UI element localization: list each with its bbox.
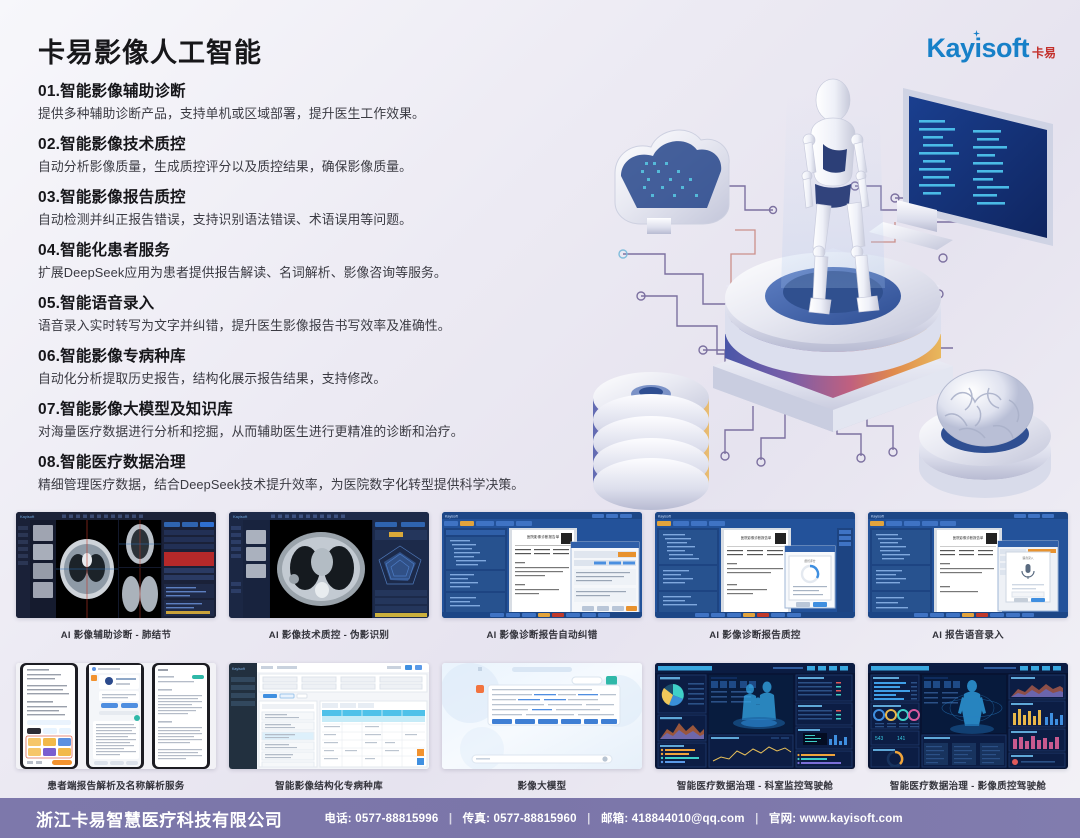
screenshot-caption: AI 影像诊断报告质控 bbox=[655, 627, 855, 641]
email-value[interactable]: 418844010@qq.com bbox=[632, 813, 745, 825]
feature-heading: 07.智能影像大模型及知识库 bbox=[38, 398, 598, 421]
feature-desc: 自动检测并纠正报告错误，支持识别语法错误、术语误用等问题。 bbox=[38, 210, 598, 231]
svg-text:质控评分: 质控评分 bbox=[804, 559, 815, 563]
ai-illustration bbox=[585, 58, 1080, 518]
feature-item: 01.智能影像辅助诊断提供多种辅助诊断产品，支持单机或区域部署，提升医生工作效果… bbox=[38, 80, 598, 125]
footer-bar: 浙江卡易智慧医疗科技有限公司 电话: 0577-88815996 | 传真: 0… bbox=[0, 798, 1080, 838]
screenshot-cell: Kayisoft 医院影像诊断报告单 bbox=[868, 512, 1068, 641]
svg-text:Kayisoft: Kayisoft bbox=[871, 515, 884, 519]
feature-desc: 扩展DeepSeek应用为患者提供报告解读、名词解析、影像咨询等服务。 bbox=[38, 263, 598, 284]
feature-desc: 自动化分析提取历史报告，结构化展示报告结果，支持修改。 bbox=[38, 369, 598, 390]
screenshot-caption: 智能医疗数据治理 - 影像质控驾驶舱 bbox=[868, 778, 1068, 792]
screenshot-caption: 患者端报告解析及名称解析服务 bbox=[16, 778, 216, 792]
company-name: 浙江卡易智慧医疗科技有限公司 bbox=[36, 806, 282, 831]
screenshot-cell: 影像大模型 bbox=[442, 663, 642, 792]
logo-sparkle-icon bbox=[973, 30, 980, 37]
screenshot-cell: 智能医疗数据治理 - 科室监控驾驶舱 bbox=[655, 663, 855, 792]
poster-root: 卡易影像人工智能 Kayisoft 卡易 01.智能影像辅助诊断提供多种辅助诊断… bbox=[0, 0, 1080, 838]
svg-text:543: 543 bbox=[875, 736, 884, 742]
thumbnail-report-voice-blue[interactable]: Kayisoft 医院影像诊断报告单 bbox=[868, 512, 1068, 618]
screenshot-caption: 智能医疗数据治理 - 科室监控驾驶舱 bbox=[655, 778, 855, 792]
svg-text:Kayisoft: Kayisoft bbox=[658, 515, 671, 519]
feature-heading: 04.智能化患者服务 bbox=[38, 239, 598, 262]
thumbnail-ct-viewer-radar[interactable]: Kayisoft bbox=[229, 512, 429, 618]
screenshot-caption: AI 报告语音录入 bbox=[868, 627, 1068, 641]
feature-desc: 提供多种辅助诊断产品，支持单机或区域部署，提升医生工作效果。 bbox=[38, 104, 598, 125]
screenshot-cell: Kayisoft bbox=[16, 512, 216, 641]
contact-info: 电话: 0577-88815996 | 传真: 0577-88815960 | … bbox=[324, 810, 902, 826]
separator: | bbox=[755, 813, 758, 825]
email-label: 邮箱: bbox=[601, 813, 628, 825]
thumbnail-admin-table-light[interactable]: Kayisoft bbox=[229, 663, 429, 769]
feature-desc: 对海量医疗数据进行分析和挖掘，从而辅助医生进行更精准的诊断和治疗。 bbox=[38, 422, 598, 443]
feature-desc: 自动分析影像质量，生成质控评分以及质控结果，确保影像质量。 bbox=[38, 157, 598, 178]
feature-desc: 精细管理医疗数据，结合DeepSeek技术提升效率，为医院数字化转型提供科学决策… bbox=[38, 475, 598, 496]
page-title: 卡易影像人工智能 bbox=[38, 31, 262, 70]
cloud-icon bbox=[615, 130, 729, 234]
screenshot-cell: Kayisoft bbox=[229, 512, 429, 641]
code-monitor bbox=[869, 88, 1053, 250]
svg-text:Kayisoft: Kayisoft bbox=[232, 667, 245, 671]
fax-label: 传真: bbox=[463, 813, 490, 825]
thumbnail-mobile-phones[interactable] bbox=[16, 663, 216, 769]
feature-item: 05.智能语音录入语音录入实时转写为文字并纠错，提升医生影像报告书写效率及准确性… bbox=[38, 292, 598, 337]
screenshot-caption: AI 影像辅助诊断 - 肺结节 bbox=[16, 627, 216, 641]
feature-heading: 08.智能医疗数据治理 bbox=[38, 451, 598, 474]
feature-item: 06.智能影像专病种库自动化分析提取历史报告，结构化展示报告结果，支持修改。 bbox=[38, 345, 598, 390]
database-stack bbox=[593, 372, 709, 510]
svg-text:医院影像诊断报告单: 医院影像诊断报告单 bbox=[741, 535, 772, 540]
screenshot-caption: AI 影像诊断报告自动纠错 bbox=[442, 627, 642, 641]
fax-value: 0577-88815960 bbox=[494, 813, 577, 825]
thumbnail-dashboard-dark-b[interactable]: 543 141 bbox=[868, 663, 1068, 769]
feature-heading: 02.智能影像技术质控 bbox=[38, 133, 598, 156]
feature-item: 04.智能化患者服务扩展DeepSeek应用为患者提供报告解读、名词解析、影像咨… bbox=[38, 239, 598, 284]
svg-text:Kayisoft: Kayisoft bbox=[445, 515, 458, 519]
feature-heading: 01.智能影像辅助诊断 bbox=[38, 80, 598, 103]
separator: | bbox=[449, 813, 452, 825]
feature-item: 07.智能影像大模型及知识库对海量医疗数据进行分析和挖掘，从而辅助医生进行更精准… bbox=[38, 398, 598, 443]
screenshot-cell: Kayisoft 医院影像诊断报告单 bbox=[442, 512, 642, 641]
feature-heading: 05.智能语音录入 bbox=[38, 292, 598, 315]
feature-heading: 03.智能影像报告质控 bbox=[38, 186, 598, 209]
svg-text:141: 141 bbox=[897, 736, 906, 742]
feature-item: 03.智能影像报告质控自动检测并纠正报告错误，支持识别语法错误、术语误用等问题。 bbox=[38, 186, 598, 231]
website-label: 官网: bbox=[769, 813, 796, 825]
svg-text:医院影像诊断报告单: 医院影像诊断报告单 bbox=[527, 534, 560, 539]
svg-text:医院影像诊断报告单: 医院影像诊断报告单 bbox=[953, 535, 984, 540]
screenshot-row-1: Kayisoft bbox=[16, 512, 1068, 641]
thumbnail-ct-viewer-dark[interactable]: Kayisoft bbox=[16, 512, 216, 618]
phone-label: 电话: bbox=[324, 813, 351, 825]
svg-text:Kayisoft: Kayisoft bbox=[20, 514, 35, 519]
thumbnail-report-qc-blue[interactable]: Kayisoft 医院影像诊断报告单 bbox=[655, 512, 855, 618]
feature-heading: 06.智能影像专病种库 bbox=[38, 345, 598, 368]
feature-desc: 语音录入实时转写为文字并纠错，提升医生影像报告书写效率及准确性。 bbox=[38, 316, 598, 337]
screenshot-cell: Kayisoft 医院影像诊断报告单 bbox=[655, 512, 855, 641]
feature-list: 01.智能影像辅助诊断提供多种辅助诊断产品，支持单机或区域部署，提升医生工作效果… bbox=[38, 80, 598, 504]
screenshot-row-2: 患者端报告解析及名称解析服务 Kayisoft bbox=[16, 663, 1068, 792]
feature-item: 08.智能医疗数据治理精细管理医疗数据，结合DeepSeek技术提升效率，为医院… bbox=[38, 451, 598, 496]
screenshot-cell: 543 141 bbox=[868, 663, 1068, 792]
screenshot-cell: 患者端报告解析及名称解析服务 bbox=[16, 663, 216, 792]
separator: | bbox=[587, 813, 590, 825]
screenshot-caption: 影像大模型 bbox=[442, 778, 642, 792]
thumbnail-report-editor-blue[interactable]: Kayisoft 医院影像诊断报告单 bbox=[442, 512, 642, 618]
thumbnail-dashboard-dark-a[interactable] bbox=[655, 663, 855, 769]
screenshot-caption: 智能影像结构化专病种库 bbox=[229, 778, 429, 792]
website-value[interactable]: www.kayisoft.com bbox=[800, 813, 903, 825]
phone-value: 0577-88815996 bbox=[355, 813, 438, 825]
screenshot-grid: Kayisoft bbox=[16, 512, 1068, 792]
screenshot-cell: Kayisoft bbox=[229, 663, 429, 792]
screenshot-caption: AI 影像技术质控 - 伪影识别 bbox=[229, 627, 429, 641]
svg-text:语音录入: 语音录入 bbox=[1022, 556, 1033, 560]
svg-text:Kayisoft: Kayisoft bbox=[233, 514, 248, 519]
feature-item: 02.智能影像技术质控自动分析影像质量，生成质控评分以及质控结果，确保影像质量。 bbox=[38, 133, 598, 178]
thumbnail-chat-light[interactable] bbox=[442, 663, 642, 769]
